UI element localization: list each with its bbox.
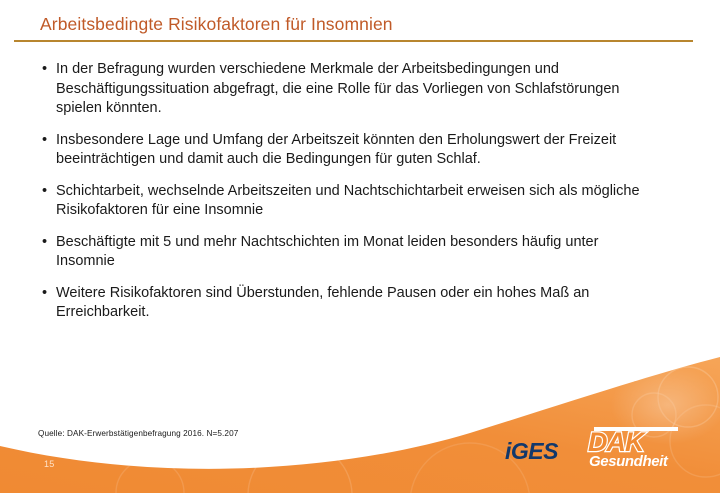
page-number: 15 bbox=[44, 459, 55, 469]
list-item-text: Weitere Risikofaktoren sind Überstunden,… bbox=[56, 284, 654, 323]
list-item: • In der Befragung wurden verschiedene M… bbox=[38, 60, 654, 119]
bullet-dot-icon: • bbox=[38, 284, 56, 304]
list-item-text: Insbesondere Lage und Umfang der Arbeits… bbox=[56, 131, 654, 170]
title-block: Arbeitsbedingte Risikofaktoren für Insom… bbox=[0, 14, 720, 46]
list-item-text: Schichtarbeit, wechselnde Arbeitszeiten … bbox=[56, 182, 654, 221]
title-divider bbox=[14, 40, 693, 42]
dak-logo-subtitle: Gesundheit bbox=[589, 454, 685, 469]
bullet-list: • In der Befragung wurden verschiedene M… bbox=[38, 60, 654, 335]
bullet-dot-icon: • bbox=[38, 233, 56, 253]
bullet-dot-icon: • bbox=[38, 131, 56, 151]
dak-logo-wordmark: DAK bbox=[588, 429, 684, 456]
bullet-dot-icon: • bbox=[38, 60, 56, 80]
slide: Arbeitsbedingte Risikofaktoren für Insom… bbox=[0, 0, 720, 493]
list-item: • Schichtarbeit, wechselnde Arbeitszeite… bbox=[38, 182, 654, 221]
list-item: • Insbesondere Lage und Umfang der Arbei… bbox=[38, 131, 654, 170]
dak-logo: DAK Gesundheit bbox=[588, 427, 684, 473]
list-item-text: In der Befragung wurden verschiedene Mer… bbox=[56, 60, 654, 119]
source-note: Quelle: DAK-Erwerbstätigenbefragung 2016… bbox=[38, 429, 238, 438]
list-item: • Beschäftigte mit 5 und mehr Nachtschic… bbox=[38, 233, 654, 272]
iges-logo: iGES bbox=[505, 440, 558, 463]
page-title: Arbeitsbedingte Risikofaktoren für Insom… bbox=[40, 14, 393, 35]
bullet-dot-icon: • bbox=[38, 182, 56, 202]
list-item-text: Beschäftigte mit 5 und mehr Nachtschicht… bbox=[56, 233, 654, 272]
list-item: • Weitere Risikofaktoren sind Überstunde… bbox=[38, 284, 654, 323]
